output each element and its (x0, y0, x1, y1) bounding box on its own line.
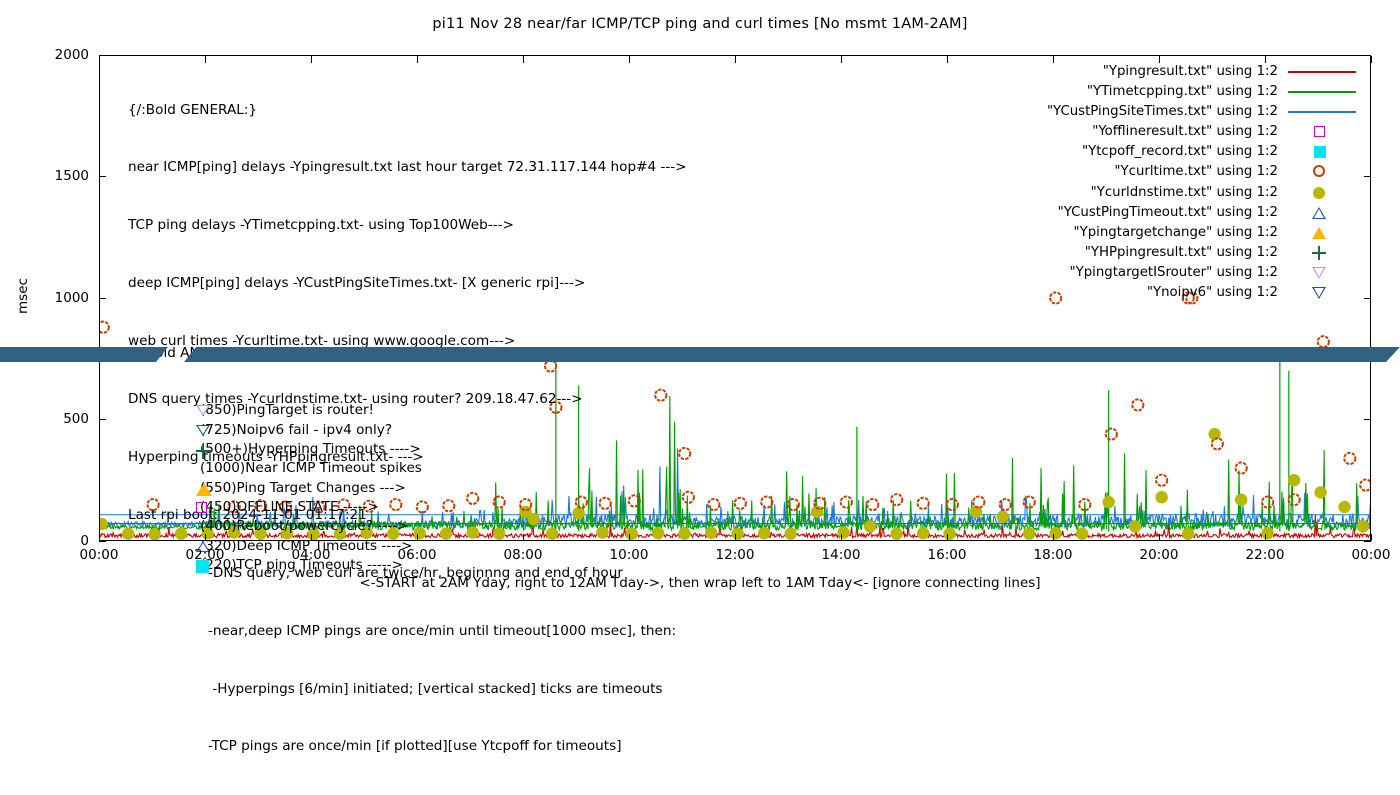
x-tick-mark (205, 56, 206, 63)
legend-glyph (1313, 165, 1325, 177)
x-tick-mark (311, 56, 312, 63)
x-tick-label: 16:00 (928, 547, 967, 563)
legend: "Ypingresult.txt" using 1:2"YTimetcpping… (980, 62, 1360, 303)
legend-glyph (1312, 207, 1326, 219)
legend-row[interactable]: "Ynoipv6" using 1:2 (980, 283, 1360, 303)
x-tick-mark (523, 56, 524, 63)
legend-key-open-triangle-down-icon (1284, 263, 1360, 283)
anomaly-open-square-icon (196, 502, 207, 513)
y-tick-mark (1364, 541, 1371, 542)
anomaly-plus-icon (196, 443, 211, 458)
legend-label: "Ytcpoff_record.txt" using 1:2 (1082, 144, 1278, 159)
anomaly-open-triangle-down-icon (196, 425, 210, 436)
legend-key-open-square-icon (1284, 122, 1360, 142)
legend-key-open-triangle-down-icon (1284, 283, 1360, 303)
x-tick-mark (1371, 534, 1372, 541)
triangle-inner (198, 406, 208, 414)
legend-key-plus-icon (1284, 243, 1360, 263)
y-tick-label: 1000 (29, 290, 89, 306)
x-tick-label: 04:00 (292, 547, 331, 563)
legend-label: "YCustPingTimeout.txt" using 1:2 (1058, 205, 1278, 220)
legend-key-line-icon (1284, 102, 1360, 122)
general-line: TCP ping delays -YTimetcpping.txt- using… (128, 216, 687, 235)
x-tick-mark (841, 56, 842, 63)
x-tick-label: 02:00 (186, 547, 225, 563)
anomaly-label: (500+)Hyperping Timeouts ----> (200, 441, 421, 457)
legend-glyph (1314, 146, 1326, 158)
anomaly-label: (725)Noipv6 fail - ipv4 only? (200, 422, 392, 438)
legend-key-filled-circle-icon (1284, 183, 1360, 203)
x-tick-label: 00:00 (1352, 547, 1391, 563)
legend-glyph (1288, 71, 1356, 73)
legend-key-filled-square-icon (1284, 142, 1360, 162)
anomaly-item: (220)TCP ping Timeouts -----> (128, 556, 422, 575)
x-tick-mark (311, 534, 312, 541)
anomaly-item: (320)Deep ICMP Timeouts ----> (128, 537, 422, 556)
anomaly-label: (1000)Near ICMP Timeout spikes (200, 460, 422, 476)
x-tick-mark (1159, 56, 1160, 63)
legend-label: "Yofflineresult.txt" using 1:2 (1092, 124, 1278, 139)
x-tick-mark (841, 534, 842, 541)
legend-key-line-icon (1284, 62, 1360, 82)
general-note: -Hyperpings [6/min] initiated; [vertical… (128, 680, 687, 699)
legend-key-open-circle-icon (1284, 162, 1360, 182)
legend-row[interactable]: "YTimetcpping.txt" using 1:2 (980, 82, 1360, 102)
anomaly-item: (400)Reboot/powercycle? ----> (128, 517, 422, 536)
legend-row[interactable]: "Ytcpoff_record.txt" using 1:2 (980, 142, 1360, 162)
legend-label: "YCustPingSiteTimes.txt" using 1:2 (1047, 104, 1278, 119)
anomaly-item: (500+)Hyperping Timeouts ----> (128, 440, 422, 459)
legend-row[interactable]: "YCustPingTimeout.txt" using 1:2 (980, 203, 1360, 223)
y-tick-label: 1500 (29, 168, 89, 184)
x-tick-label: 22:00 (1246, 547, 1285, 563)
anomaly-item: (450)OFFLINE STATE -----> (128, 498, 422, 517)
x-tick-mark (417, 56, 418, 63)
anomaly-label: (450)OFFLINE STATE -----> (200, 499, 379, 515)
x-tick-mark (99, 56, 100, 63)
x-tick-mark (735, 534, 736, 541)
legend-label: "Ynoipv6" using 1:2 (1147, 285, 1278, 300)
anomaly-item: (725)Noipv6 fail - ipv4 only? (128, 421, 422, 440)
legend-glyph (1312, 227, 1326, 239)
legend-row[interactable]: "YHPpingresult.txt" using 1:2 (980, 243, 1360, 263)
anomaly-item: (550)Ping Target Changes ---> (128, 479, 422, 498)
legend-row[interactable]: "YCustPingSiteTimes.txt" using 1:2 (980, 102, 1360, 122)
x-tick-mark (205, 534, 206, 541)
anomaly-label: (400)Reboot/powercycle? ----> (200, 518, 408, 534)
anomaly-label: (550)Ping Target Changes ---> (200, 480, 406, 496)
x-tick-label: 14:00 (822, 547, 861, 563)
anomaly-open-triangle-down-icon (196, 405, 210, 416)
x-tick-label: 18:00 (1034, 547, 1073, 563)
plus-v (202, 444, 204, 459)
x-tick-mark (1265, 56, 1266, 63)
general-note: -near,deep ICMP pings are once/min until… (128, 622, 687, 641)
general-note: -TCP pings are once/min [if plotted][use… (128, 737, 687, 756)
x-tick-mark (735, 56, 736, 63)
anomalies-heading: {/:Bold ANOMALIES:} (128, 344, 422, 363)
chart-title: pi11 Nov 28 near/far ICMP/TCP ping and c… (0, 16, 1400, 32)
y-tick-label: 500 (29, 411, 89, 427)
x-tick-mark (947, 56, 948, 63)
legend-label: "Ycurldnstime.txt" using 1:2 (1091, 185, 1278, 200)
y-tick-mark (99, 541, 106, 542)
legend-glyph (1313, 187, 1325, 199)
x-tick-mark (1053, 534, 1054, 541)
x-tick-mark (1265, 534, 1266, 541)
legend-label: "Ycurltime.txt" using 1:2 (1114, 164, 1278, 179)
legend-row[interactable]: "Yofflineresult.txt" using 1:2 (980, 122, 1360, 142)
legend-label: "YHPpingresult.txt" using 1:2 (1085, 245, 1278, 260)
legend-glyph (1312, 267, 1326, 279)
general-line: deep ICMP[ping] delays -YCustPingSiteTim… (128, 274, 687, 293)
legend-row[interactable]: "Ypingresult.txt" using 1:2 (980, 62, 1360, 82)
legend-glyph (1318, 246, 1320, 260)
x-tick-mark (947, 534, 948, 541)
anomaly-label: (850)PingTarget is router! (200, 402, 374, 418)
legend-key-filled-triangle-up-icon (1284, 223, 1360, 243)
x-tick-label: 00:00 (80, 547, 119, 563)
x-tick-label: 10:00 (610, 547, 649, 563)
general-line: near ICMP[ping] delays -Ypingresult.txt … (128, 158, 687, 177)
x-tick-label: 20:00 (1140, 547, 1179, 563)
legend-key-line-icon (1284, 82, 1360, 102)
x-tick-label: 08:00 (504, 547, 543, 563)
x-tick-mark (417, 534, 418, 541)
legend-row[interactable]: "Ypingtargetchange" using 1:2 (980, 223, 1360, 243)
anomaly-item: (1000)Near ICMP Timeout spikes (128, 459, 422, 478)
legend-glyph (1314, 126, 1325, 137)
anomaly-filled-triangle-up-icon (196, 483, 212, 496)
anomalies-list: (850)PingTarget is router!(725)Noipv6 fa… (128, 401, 422, 575)
x-tick-mark (99, 534, 100, 541)
legend-glyph (1288, 111, 1356, 113)
x-tick-mark (629, 534, 630, 541)
anomalies-annotations: {/:Bold ANOMALIES:} (850)PingTarget is r… (128, 305, 422, 614)
y-tick-label: 2000 (29, 47, 89, 63)
x-tick-mark (1159, 534, 1160, 541)
general-heading: {/:Bold GENERAL:} (128, 101, 687, 120)
legend-glyph (1312, 287, 1326, 299)
x-tick-mark (1371, 56, 1372, 63)
legend-label: "Ypingresult.txt" using 1:2 (1103, 64, 1278, 79)
triangle-inner (198, 426, 208, 434)
legend-row[interactable]: "Ycurldnstime.txt" using 1:2 (980, 183, 1360, 203)
x-tick-mark (629, 56, 630, 63)
x-tick-label: 12:00 (716, 547, 755, 563)
legend-label: "YpingtargetISrouter" using 1:2 (1069, 265, 1278, 280)
x-tick-mark (1053, 56, 1054, 63)
legend-row[interactable]: "Ycurltime.txt" using 1:2 (980, 162, 1360, 182)
legend-key-open-triangle-up-icon (1284, 203, 1360, 223)
legend-label: "Ypingtargetchange" using 1:2 (1074, 225, 1279, 240)
legend-row[interactable]: "YpingtargetISrouter" using 1:2 (980, 263, 1360, 283)
legend-label: "YTimetcpping.txt" using 1:2 (1087, 84, 1278, 99)
x-tick-label: 06:00 (398, 547, 437, 563)
x-tick-mark (523, 534, 524, 541)
anomaly-item: (850)PingTarget is router! (128, 401, 422, 420)
legend-glyph (1288, 91, 1356, 93)
